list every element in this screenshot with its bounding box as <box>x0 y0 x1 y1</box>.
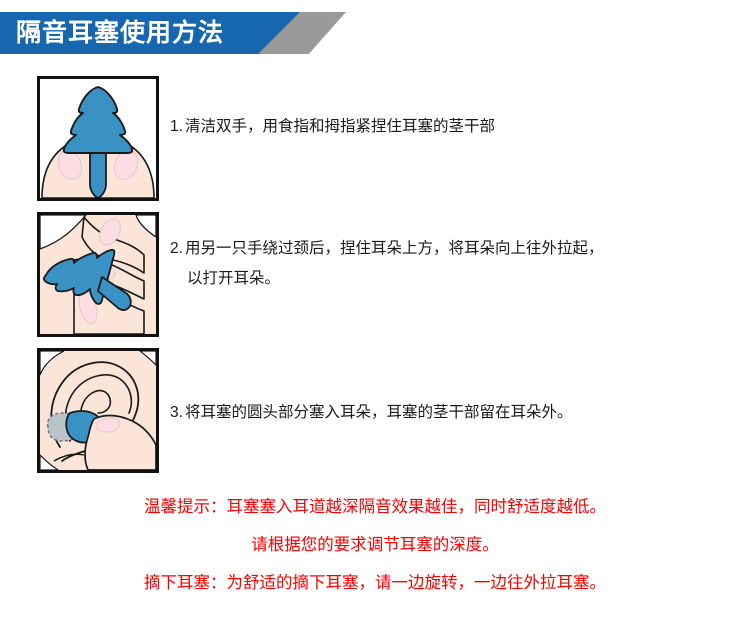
notes-section: 温馨提示：耳塞塞入耳道越深隔音效果越佳，同时舒适度越低。 请根据您的要求调节耳塞… <box>0 488 750 602</box>
step-3-illustration <box>37 348 159 473</box>
page-title: 隔音耳塞使用方法 <box>16 12 224 54</box>
step-3-number: 3. <box>170 404 183 421</box>
note-line-1: 温馨提示：耳塞塞入耳道越深隔音效果越佳，同时舒适度越低。 <box>0 488 750 526</box>
hand-reaching-over-head-pulling-ear-icon <box>40 215 156 334</box>
note-line-2: 请根据您的要求调节耳塞的深度。 <box>0 526 750 564</box>
step-3-label: 将耳塞的圆头部分塞入耳朵，耳塞的茎干部留在耳朵外。 <box>185 404 573 421</box>
step-2-text: 2.用另一只手绕过颈后，捏住耳朵上方，将耳朵向上往外拉起， 以打开耳朵。 <box>170 234 730 294</box>
step-2-label: 用另一只手绕过颈后，捏住耳朵上方，将耳朵向上往外拉起， <box>185 240 604 257</box>
step-1-text: 1.清洁双手，用食指和拇指紧捏住耳塞的茎干部 <box>170 112 730 142</box>
step-2-label-line2: 以打开耳朵。 <box>170 264 730 294</box>
fingers-holding-tree-earplug-icon <box>40 79 156 198</box>
step-row-2: 2.用另一只手绕过颈后，捏住耳朵上方，将耳朵向上往外拉起， 以打开耳朵。 <box>0 212 750 340</box>
step-row-1: 1.清洁双手，用食指和拇指紧捏住耳塞的茎干部 <box>0 76 750 204</box>
inserting-earplug-into-ear-icon <box>40 351 156 470</box>
step-2-number: 2. <box>170 240 183 257</box>
step-row-3: 3.将耳塞的圆头部分塞入耳朵，耳塞的茎干部留在耳朵外。 <box>0 348 750 476</box>
page-root: 隔音耳塞使用方法 1.清洁双手，用食指和拇指紧捏住耳塞的茎干部 <box>0 0 750 623</box>
step-1-label: 清洁双手，用食指和拇指紧捏住耳塞的茎干部 <box>185 118 495 135</box>
note-line-3: 摘下耳塞：为舒适的摘下耳塞，请一边旋转，一边往外拉耳塞。 <box>0 564 750 602</box>
step-1-illustration <box>37 76 159 201</box>
step-2-illustration <box>37 212 159 337</box>
page-header-banner: 隔音耳塞使用方法 <box>0 12 345 54</box>
step-3-text: 3.将耳塞的圆头部分塞入耳朵，耳塞的茎干部留在耳朵外。 <box>170 398 730 428</box>
step-1-number: 1. <box>170 118 183 135</box>
